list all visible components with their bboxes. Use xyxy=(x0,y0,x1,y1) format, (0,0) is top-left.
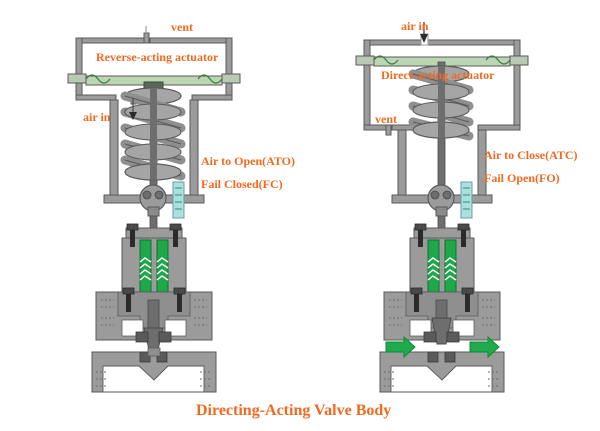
right-valve-body-lower xyxy=(380,352,504,392)
left-packing-right xyxy=(157,240,168,298)
left-action-line2: Fail Closed(FC) xyxy=(201,177,283,192)
right-action-line2: Fail Open(FO) xyxy=(484,171,560,186)
right-air-in-label: air in xyxy=(401,19,428,34)
left-air-in-label: air in xyxy=(83,110,110,125)
valve-diagram-svg xyxy=(0,0,600,431)
right-actuator-label: Direct-acting actuator xyxy=(381,68,494,83)
right-travel-indicator-scale xyxy=(461,182,472,218)
right-packing-left xyxy=(428,240,439,298)
left-travel-indicator-scale xyxy=(173,182,184,218)
right-vent-label: vent xyxy=(375,112,397,127)
right-action-line1: Air to Close(ATC) xyxy=(484,148,578,163)
diagram-canvas: vent Reverse-acting actuator air in Air … xyxy=(0,0,600,431)
right-packing-right xyxy=(445,240,456,298)
left-actuator-label: Reverse-acting actuator xyxy=(96,50,218,65)
left-packing-left xyxy=(140,240,151,298)
left-vent-label: vent xyxy=(171,20,193,35)
left-action-line1: Air to Open(ATO) xyxy=(201,154,295,169)
right-stem-coupling xyxy=(428,185,454,216)
left-stem-coupling xyxy=(140,185,166,216)
left-valve-body-lower xyxy=(92,348,216,392)
figure-title: Directing-Acting Valve Body xyxy=(196,402,391,420)
